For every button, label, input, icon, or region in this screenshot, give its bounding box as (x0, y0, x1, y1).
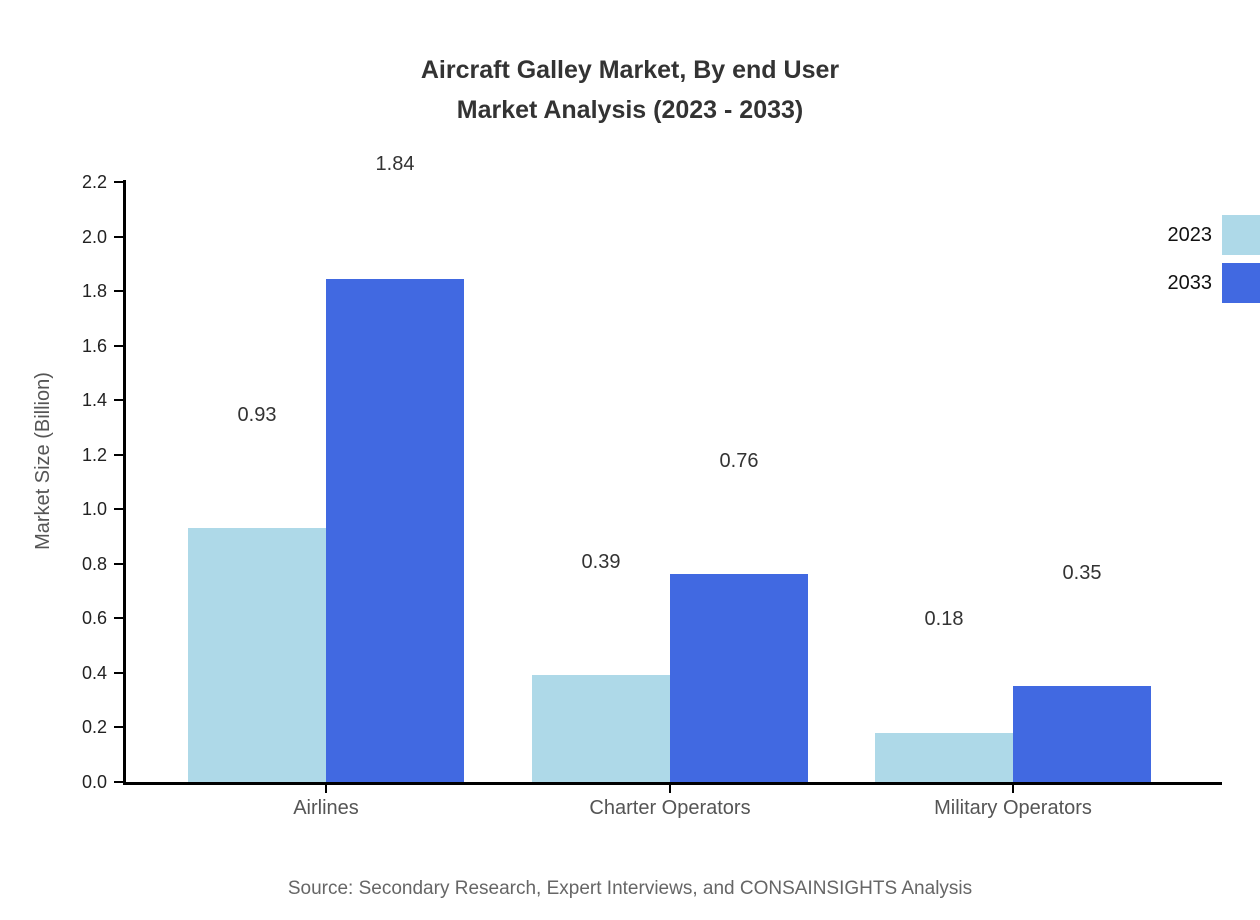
x-tick-label-charter-operators: Charter Operators (589, 796, 750, 820)
bar-value-label-airlines-2033: 1.84 (376, 153, 415, 175)
bar-value-label-military-operators-2033: 0.35 (1063, 562, 1102, 584)
legend-item-2023[interactable]: 2023 (1110, 215, 1260, 255)
chart-figure: Aircraft Galley Market, By end User Mark… (0, 0, 1260, 920)
y-tick-mark (114, 399, 123, 401)
x-tick-mark (1012, 783, 1014, 793)
bar-airlines-2033[interactable] (326, 279, 464, 782)
bar-airlines-2023[interactable] (188, 528, 326, 782)
legend-swatch-2023 (1222, 215, 1260, 255)
plot-area: 0.0 0.2 0.4 0.6 0.8 1.0 1.2 1.4 1.6 1.8 … (123, 180, 1222, 782)
y-tick-label: 0.8 (37, 555, 107, 573)
y-tick-label: 0.6 (37, 609, 107, 627)
bar-military-operators-2023[interactable] (875, 733, 1013, 782)
y-tick-label: 0.2 (37, 718, 107, 736)
legend-label-2033: 2033 (1110, 272, 1212, 294)
bar-military-operators-2033[interactable] (1013, 686, 1151, 782)
x-tick-label-military-operators: Military Operators (934, 796, 1092, 820)
y-tick-label: 1.6 (37, 337, 107, 355)
bar-charter-operators-2023[interactable] (532, 675, 670, 782)
y-tick-label: 1.8 (37, 282, 107, 300)
y-tick-label: 0.4 (37, 664, 107, 682)
chart-legend: 2023 2033 (1110, 215, 1260, 305)
y-tick-label: 1.0 (37, 500, 107, 518)
y-tick-mark (114, 726, 123, 728)
y-tick-mark (114, 236, 123, 238)
legend-swatch-2033 (1222, 263, 1260, 303)
x-tick-mark (669, 783, 671, 793)
y-tick-label: 0.0 (37, 773, 107, 791)
y-tick-mark (114, 345, 123, 347)
y-tick-mark (114, 290, 123, 292)
source-note: Source: Secondary Research, Expert Inter… (0, 878, 1260, 900)
bar-value-label-charter-operators-2023: 0.39 (582, 551, 621, 573)
y-tick-mark (114, 617, 123, 619)
y-axis-line (123, 180, 126, 782)
y-tick-mark (114, 563, 123, 565)
y-tick-mark (114, 781, 123, 783)
y-tick-mark (114, 181, 123, 183)
bar-charter-operators-2033[interactable] (670, 574, 808, 782)
y-tick-mark (114, 672, 123, 674)
legend-item-2033[interactable]: 2033 (1110, 263, 1260, 303)
y-tick-label: 1.2 (37, 446, 107, 464)
bar-value-label-charter-operators-2033: 0.76 (720, 450, 759, 472)
x-axis-line (123, 782, 1222, 785)
chart-title-line-1: Aircraft Galley Market, By end User (0, 50, 1260, 90)
y-tick-label: 1.4 (37, 391, 107, 409)
chart-title-line-2: Market Analysis (2023 - 2033) (0, 90, 1260, 130)
x-tick-mark (325, 783, 327, 793)
y-tick-label: 2.2 (37, 173, 107, 191)
y-tick-label: 2.0 (37, 228, 107, 246)
bar-value-label-airlines-2023: 0.93 (238, 404, 277, 426)
bar-value-label-military-operators-2023: 0.18 (925, 608, 964, 630)
y-tick-mark (114, 508, 123, 510)
chart-title: Aircraft Galley Market, By end User Mark… (0, 50, 1260, 130)
x-tick-label-airlines: Airlines (293, 796, 359, 820)
y-tick-mark (114, 454, 123, 456)
legend-label-2023: 2023 (1110, 224, 1212, 246)
